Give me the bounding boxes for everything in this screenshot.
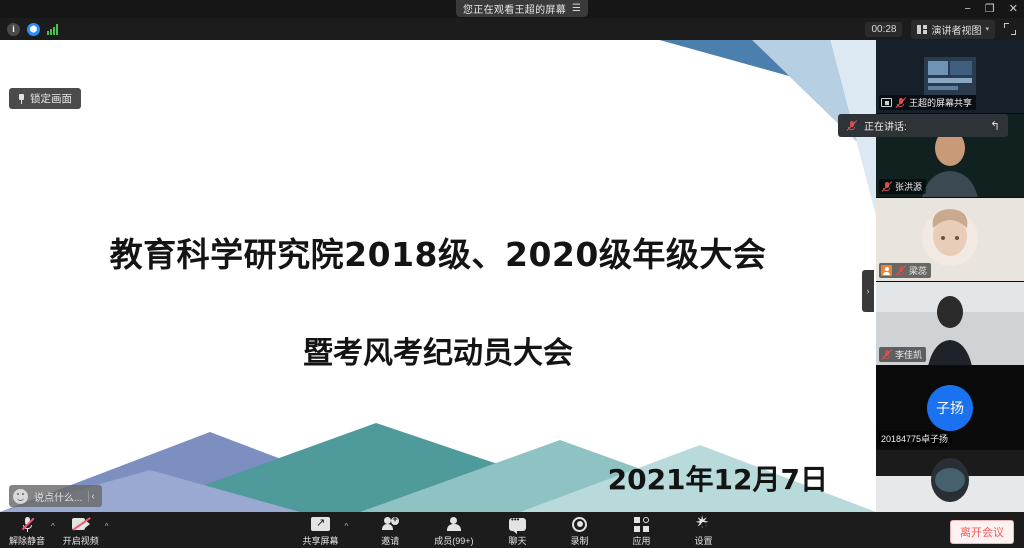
zoom-meeting-window: 您正在观看王超的屏幕 ☰ − ❐ ✕ i ⬢ 00:28 演讲者视图 ▾ — [0, 0, 1024, 548]
signal-bars-icon[interactable] — [47, 24, 58, 35]
participant-name-bar: 20184775卓子扬 — [879, 431, 952, 446]
shared-screen-stage[interactable]: 教育科学研究院2018级、2020级年级大会 暨考风考纪动员大会 2021年12… — [0, 40, 876, 512]
restore-button[interactable]: ❐ — [985, 4, 995, 15]
mic-muted-icon — [881, 349, 892, 360]
window-controls: − ❐ ✕ — [964, 0, 1018, 18]
share-options-caret[interactable]: ^ — [343, 522, 351, 539]
layout-icon — [917, 25, 927, 34]
meeting-top-toolbar: i ⬢ 00:28 演讲者视图 ▾ — [0, 18, 1024, 40]
record-label: 录制 — [571, 534, 589, 547]
undo-arrow-icon[interactable]: ↰ — [990, 119, 1000, 133]
view-mode-selector[interactable]: 演讲者视图 ▾ — [911, 20, 995, 39]
chat-label: 聊天 — [509, 534, 527, 547]
meeting-actions-group: 共享屏幕 ^ 邀请 成员(99+) 聊天 — [0, 514, 1024, 547]
participant-name-bar: 梁蕊 — [879, 263, 931, 278]
mic-muted-icon — [846, 120, 857, 131]
leave-meeting-button[interactable]: 离开会议 — [950, 520, 1014, 544]
avatar-initials: 子扬 — [927, 385, 973, 431]
share-screen-label: 共享屏幕 — [302, 534, 338, 547]
video-feed — [876, 450, 1024, 512]
share-status-banner[interactable]: 您正在观看王超的屏幕 ☰ — [456, 0, 588, 17]
slide-decoration — [0, 40, 876, 512]
meeting-info-group: i ⬢ — [0, 23, 58, 36]
participant-tile[interactable]: 梁蕊 — [876, 198, 1024, 282]
slide-title-line-2: 暨考风考纪动员大会 — [0, 328, 876, 372]
participant-name-bar: 张洪源 — [879, 179, 926, 194]
share-banner-label: 您正在观看王超的屏幕 — [463, 1, 566, 16]
emoji-icon[interactable] — [13, 489, 28, 504]
apps-label: 应用 — [633, 534, 651, 547]
mic-muted-icon — [881, 181, 892, 192]
participant-tile[interactable]: 子扬 20184775卓子扬 — [876, 366, 1024, 450]
participants-icon — [446, 516, 461, 533]
view-controls-group: 00:28 演讲者视图 ▾ — [865, 20, 1024, 39]
participant-tile[interactable]: 王超的屏幕共享 — [876, 40, 1024, 114]
participant-filmstrip[interactable]: 王超的屏幕共享 张洪源 — [876, 40, 1024, 512]
view-mode-label: 演讲者视图 — [931, 22, 981, 37]
participant-tile[interactable]: 李佳凯 — [876, 282, 1024, 366]
invite-button[interactable]: 邀请 — [367, 514, 413, 547]
settings-label: 设置 — [695, 534, 713, 547]
lock-screen-button[interactable]: 锁定画面 — [9, 88, 81, 109]
share-screen-button[interactable]: 共享屏幕 — [297, 514, 343, 547]
participants-button[interactable]: 成员(99+) — [429, 514, 478, 547]
info-icon[interactable]: i — [7, 23, 20, 36]
slide-title-line-1: 教育科学研究院2018级、2020级年级大会 — [0, 228, 876, 276]
screen-share-icon — [881, 98, 892, 107]
record-button[interactable]: 录制 — [557, 514, 603, 547]
meeting-bottom-toolbar: 解除静音 ^ 开启视频 ^ 共享屏幕 ^ — [0, 512, 1024, 548]
hamburger-icon[interactable]: ☰ — [572, 4, 581, 14]
person-video — [876, 450, 1024, 512]
window-title-bar: 您正在观看王超的屏幕 ☰ − ❐ ✕ — [0, 0, 1024, 18]
slide-date: 2021年12月7日 — [608, 458, 828, 498]
participant-name: 李佳凯 — [895, 348, 922, 361]
record-icon — [572, 516, 587, 533]
quick-chat-placeholder: 说点什么... — [34, 489, 82, 504]
participants-label: 成员(99+) — [434, 534, 473, 547]
chevron-down-icon[interactable]: ▾ — [985, 25, 989, 33]
chat-icon — [509, 516, 526, 533]
share-screen-icon — [311, 516, 330, 533]
participant-name: 梁蕊 — [909, 264, 927, 277]
pin-icon — [18, 94, 25, 104]
meeting-timer: 00:28 — [865, 22, 902, 37]
fullscreen-icon[interactable] — [1004, 23, 1016, 35]
speaking-indicator-tooltip: 正在讲话: ↰ — [838, 114, 1008, 137]
settings-gear-icon — [696, 516, 711, 533]
apps-button[interactable]: 应用 — [619, 514, 665, 547]
settings-button[interactable]: 设置 — [681, 514, 727, 547]
speaking-label: 正在讲话: — [864, 118, 907, 133]
chevron-left-icon[interactable]: ‹ — [88, 491, 98, 502]
participant-tile[interactable] — [876, 450, 1024, 512]
lock-screen-label: 锁定画面 — [30, 91, 72, 106]
participant-name: 王超的屏幕共享 — [909, 96, 972, 109]
filmstrip-collapse-handle[interactable]: › — [862, 270, 874, 312]
invite-icon — [382, 516, 399, 533]
close-button[interactable]: ✕ — [1009, 4, 1018, 15]
user-orange-icon — [881, 265, 892, 276]
participant-name: 张洪源 — [895, 180, 922, 193]
shield-icon[interactable]: ⬢ — [27, 23, 40, 36]
participant-name-bar: 王超的屏幕共享 — [879, 95, 976, 110]
presentation-slide: 教育科学研究院2018级、2020级年级大会 暨考风考纪动员大会 2021年12… — [0, 40, 876, 512]
mic-muted-icon — [895, 97, 906, 108]
minimize-button[interactable]: − — [964, 4, 970, 15]
quick-chat-input[interactable]: 说点什么... ‹ — [9, 485, 102, 507]
apps-icon — [634, 516, 649, 533]
invite-label: 邀请 — [381, 534, 399, 547]
participant-name-bar: 李佳凯 — [879, 347, 926, 362]
mic-muted-icon — [895, 265, 906, 276]
chat-button[interactable]: 聊天 — [495, 514, 541, 547]
participant-name: 20184775卓子扬 — [881, 432, 948, 445]
